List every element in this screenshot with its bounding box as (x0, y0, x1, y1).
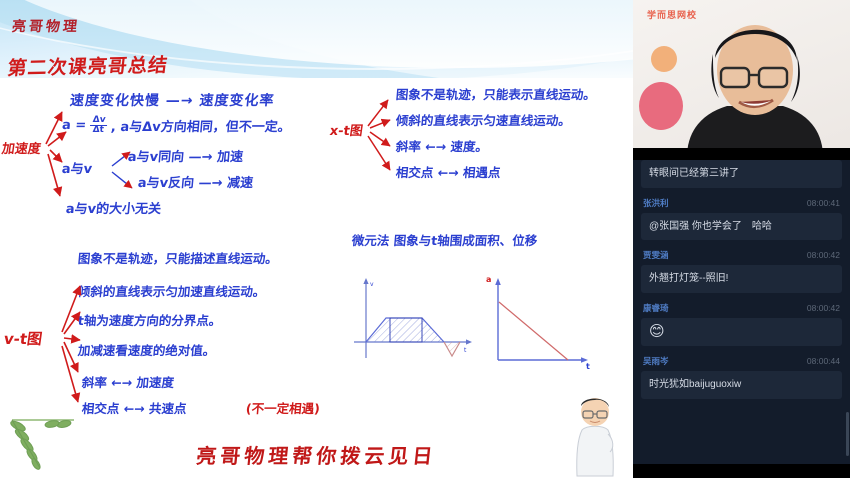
xt-note-4: 相交点 ←→ 相遇点 (395, 162, 501, 181)
branch-opposite-direction: a与v反向 —→ 减速 (137, 172, 254, 191)
xt-note-2: 倾斜的直线表示匀速直线运动。 (395, 110, 572, 129)
svg-text:t: t (586, 362, 590, 371)
teacher-video[interactable]: 学而思网校 (633, 0, 850, 160)
chat-timestamp: 08:00:42 (807, 303, 840, 313)
vt-graph-label: v-t图 (3, 328, 44, 349)
chat-timestamp: 08:00:42 (807, 250, 840, 260)
chat-username[interactable]: 贾雯涵 (643, 249, 669, 261)
chat-message[interactable]: 外翘打灯笼--照旧! (641, 265, 842, 293)
formula-note: , a与Δv方向相同，但不一定。 (110, 116, 291, 135)
vt-note-5: 斜率 ←→ 加速度 (81, 372, 175, 391)
chat-message[interactable]: 时光犹如baijuguoxiw (641, 371, 842, 399)
at-diagram: a t (478, 272, 598, 372)
chat-timestamp: 08:00:44 (807, 356, 840, 366)
teacher-figure (679, 14, 829, 160)
acceleration-side-label: 加速度 (1, 138, 43, 157)
chat-timestamp: 08:00:41 (807, 198, 840, 208)
magnitude-note: a与v的大小无关 (65, 198, 162, 217)
vt-note-2: 倾斜的直线表示匀加速直线运动。 (77, 281, 266, 300)
formula-fraction: Δv Δt (89, 116, 108, 136)
live-class-screen: 亮哥物理 第二次课亮哥总结 速度变化快慢 —→ 速度变化率 加速度 a = Δv… (0, 0, 850, 478)
svg-text:a: a (486, 275, 491, 284)
chat-message-list: 转眼间已经第三讲了张洪利08:00:41@张国强 你也学会了 哈哈贾雯涵08:0… (633, 160, 850, 399)
decor-circle-orange (651, 46, 677, 72)
chat-message[interactable]: 😊 (641, 318, 842, 347)
xt-note-3: 斜率 ←→ 速度。 (395, 136, 489, 155)
acceleration-formula: a = Δv Δt , a与Δv方向相同，但不一定。 (61, 116, 292, 136)
bottom-banner-text: 亮哥物理帮你拨云见日 (0, 440, 633, 469)
branch-node-label: a与v (61, 158, 93, 177)
svg-text:v: v (370, 281, 374, 288)
formula-lhs: a = (61, 118, 87, 133)
chat-message[interactable]: @张国强 你也学会了 哈哈 (641, 213, 842, 241)
vt-note-4: 加减速看速度的绝对值。 (77, 340, 216, 359)
vt-diagram: v t (348, 276, 478, 368)
chat-message[interactable]: 转眼间已经第三讲了 (641, 160, 842, 188)
vt-note-red-annotation: (不一定相遇) (245, 398, 321, 417)
chat-message-meta: 康睿琦08:00:42 (643, 302, 840, 314)
xt-note-1: 图象不是轨迹，只能表示直线运动。 (395, 84, 597, 103)
branch-same-direction: a与v同向 —→ 加速 (127, 146, 244, 165)
svg-text:t: t (464, 347, 467, 354)
chat-message-meta: 贾雯涵08:00:42 (643, 249, 840, 261)
acceleration-heading: 速度变化快慢 —→ 速度变化率 (69, 90, 276, 110)
chat-username[interactable]: 康睿琦 (643, 302, 669, 314)
whiteboard-slide: 亮哥物理 第二次课亮哥总结 速度变化快慢 —→ 速度变化率 加速度 a = Δv… (0, 0, 633, 478)
chat-username[interactable]: 吴雨岑 (643, 355, 669, 367)
chat-message-meta: 吴雨岑08:00:44 (643, 355, 840, 367)
formula-denominator: Δt (92, 126, 104, 135)
micro-element-note: 微元法 图象与t轴围成面积、位移 (351, 230, 538, 249)
chat-username[interactable]: 张洪利 (643, 197, 669, 209)
chat-letterbox (633, 464, 850, 478)
vt-note-1: 图象不是轨迹，只能描述直线运动。 (77, 248, 279, 267)
decor-circle-pink (639, 82, 683, 130)
chat-message-meta: 张洪利08:00:41 (643, 197, 840, 209)
vt-note-3: t轴为速度方向的分界点。 (77, 310, 222, 329)
xt-graph-label: x-t图 (329, 120, 365, 139)
chat-scrollbar[interactable] (846, 412, 849, 456)
right-sidebar: 学而思网校 转眼间已经第三讲了张洪利08:00:41@张国强 你也学会了 哈哈贾… (633, 0, 850, 478)
brand-title: 亮哥物理 (11, 16, 81, 36)
video-letterbox (633, 148, 850, 160)
chat-panel[interactable]: 转眼间已经第三讲了张洪利08:00:41@张国强 你也学会了 哈哈贾雯涵08:0… (633, 160, 850, 478)
lesson-title: 第二次课亮哥总结 (6, 50, 170, 80)
